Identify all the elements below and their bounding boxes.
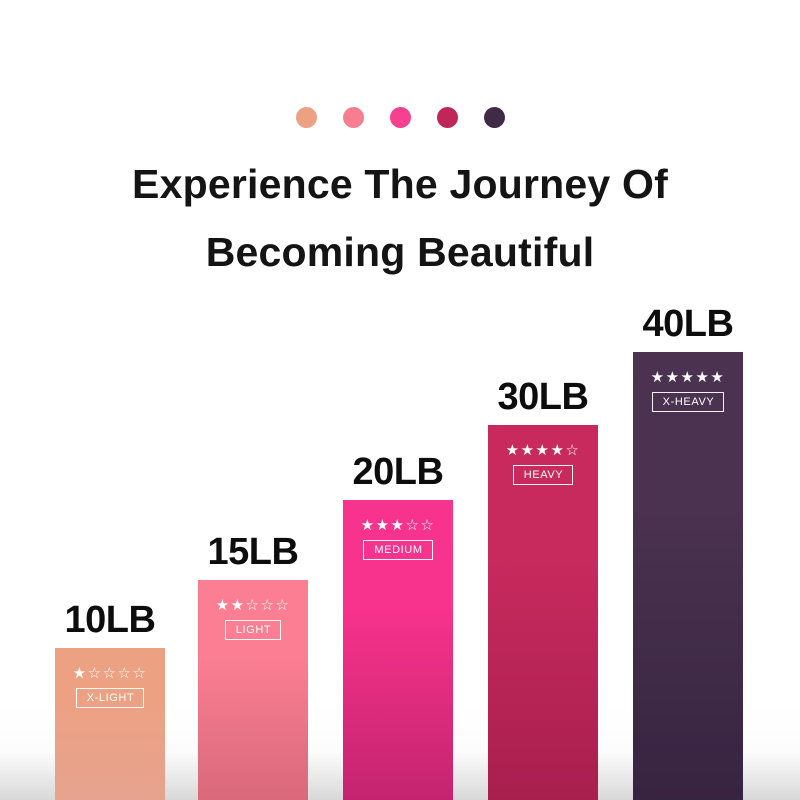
product-infographic: Experience The Journey Of Becoming Beaut… xyxy=(0,0,800,800)
star-rating-icon: ★★★☆☆ xyxy=(361,518,436,533)
bar-weight-label: 10LB xyxy=(65,599,156,642)
bar-badge-group: ★★★★★X-HEAVY xyxy=(633,370,743,412)
resistance-level-badge: X-HEAVY xyxy=(652,392,725,412)
bar-group-15lb[interactable]: 15LB★★☆☆☆LIGHT xyxy=(198,580,308,800)
bar-fill: ★☆☆☆☆X-LIGHT xyxy=(55,648,165,800)
bar-weight-label: 40LB xyxy=(643,303,734,346)
bar-badge-group: ★★★☆☆MEDIUM xyxy=(343,518,453,560)
star-rating-icon: ★☆☆☆☆ xyxy=(73,666,148,681)
star-rating-icon: ★★★★☆ xyxy=(506,443,581,458)
resistance-level-badge: HEAVY xyxy=(513,465,573,485)
bar-weight-label: 30LB xyxy=(498,376,589,419)
bar-badge-group: ★★☆☆☆LIGHT xyxy=(198,598,308,640)
bar-group-10lb[interactable]: 10LB★☆☆☆☆X-LIGHT xyxy=(55,648,165,800)
bar-fill: ★★★★☆HEAVY xyxy=(488,425,598,800)
bar-group-20lb[interactable]: 20LB★★★☆☆MEDIUM xyxy=(343,500,453,800)
resistance-level-bar-chart: 10LB★☆☆☆☆X-LIGHT15LB★★☆☆☆LIGHT20LB★★★☆☆M… xyxy=(0,0,800,800)
bar-badge-group: ★☆☆☆☆X-LIGHT xyxy=(55,666,165,708)
resistance-level-badge: X-LIGHT xyxy=(76,688,145,708)
bar-fill: ★★★☆☆MEDIUM xyxy=(343,500,453,800)
bar-fill: ★★★★★X-HEAVY xyxy=(633,352,743,800)
bar-group-30lb[interactable]: 30LB★★★★☆HEAVY xyxy=(488,425,598,800)
bar-weight-label: 15LB xyxy=(208,531,299,574)
bar-group-40lb[interactable]: 40LB★★★★★X-HEAVY xyxy=(633,352,743,800)
star-rating-icon: ★★★★★ xyxy=(651,370,726,385)
resistance-level-badge: MEDIUM xyxy=(363,540,432,560)
star-rating-icon: ★★☆☆☆ xyxy=(216,598,291,613)
bar-badge-group: ★★★★☆HEAVY xyxy=(488,443,598,485)
bar-fill: ★★☆☆☆LIGHT xyxy=(198,580,308,800)
bar-weight-label: 20LB xyxy=(353,451,444,494)
resistance-level-badge: LIGHT xyxy=(225,620,281,640)
